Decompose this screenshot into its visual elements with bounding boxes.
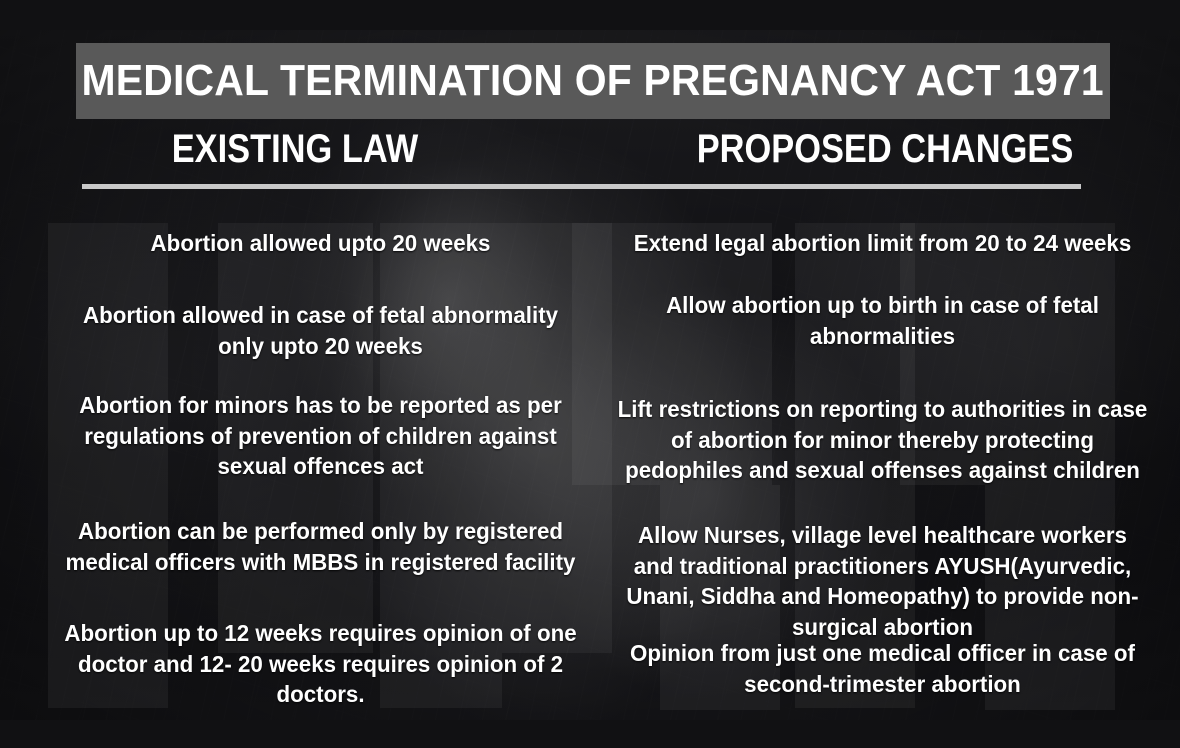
list-item: Abortion for minors has to be reported a… [62,390,580,482]
list-item: Abortion can be performed only by regist… [62,516,580,577]
header-divider [82,184,1081,189]
list-item: Abortion allowed upto 20 weeks [62,228,580,259]
bottom-letterbox-bar [0,720,1180,748]
top-letterbox-bar [0,0,1180,30]
column-heading-proposed-changes: PROPOSED CHANGES [631,127,1138,171]
list-item: Allow abortion up to birth in case of fe… [638,290,1127,351]
list-item: Extend legal abortion limit from 20 to 2… [614,228,1151,259]
list-item: Abortion up to 12 weeks requires opinion… [62,618,580,710]
infographic-canvas: MEDICAL TERMINATION OF PREGNANCY ACT 197… [0,0,1180,748]
list-item: Allow Nurses, village level healthcare w… [624,520,1142,642]
title-banner: MEDICAL TERMINATION OF PREGNANCY ACT 197… [76,43,1110,119]
page-title: MEDICAL TERMINATION OF PREGNANCY ACT 197… [82,59,1104,103]
column-heading-existing-law: EXISTING LAW [41,127,548,171]
list-item: Lift restrictions on reporting to author… [614,394,1151,486]
list-item: Abortion allowed in case of fetal abnorm… [62,300,580,361]
list-item: Opinion from just one medical officer in… [614,638,1151,699]
